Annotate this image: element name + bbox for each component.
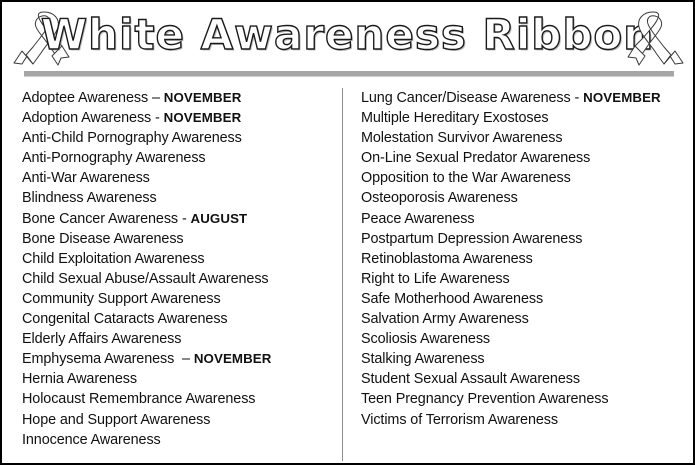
awareness-name: Holocaust Remembrance Awareness bbox=[22, 391, 255, 407]
list-item: Anti-War Awareness bbox=[22, 168, 342, 188]
poster-header: White Awareness Ribbon bbox=[2, 2, 693, 74]
awareness-name: Blindness Awareness bbox=[22, 190, 157, 206]
right-column: Lung Cancer/Disease Awareness - NOVEMBER… bbox=[342, 88, 693, 461]
list-item: Elderly Affairs Awareness bbox=[22, 329, 342, 349]
awareness-month: AUGUST bbox=[191, 211, 248, 226]
awareness-name: Safe Motherhood Awareness bbox=[361, 291, 543, 307]
list-item: Innocence Awareness bbox=[22, 430, 342, 450]
list-item: Teen Pregnancy Prevention Awareness bbox=[361, 389, 693, 409]
list-item: Blindness Awareness bbox=[22, 188, 342, 208]
awareness-name: Hope and Support Awareness bbox=[22, 412, 210, 428]
awareness-month: NOVEMBER bbox=[583, 90, 661, 105]
list-item: Congenital Cataracts Awareness bbox=[22, 309, 342, 329]
awareness-name: Student Sexual Assault Awareness bbox=[361, 371, 580, 387]
list-item: Bone Cancer Awareness - AUGUST bbox=[22, 209, 342, 229]
list-item: Peace Awareness bbox=[361, 209, 693, 229]
list-item: Child Exploitation Awareness bbox=[22, 249, 342, 269]
awareness-name: Hernia Awareness bbox=[22, 371, 137, 387]
awareness-ribbon-icon bbox=[623, 6, 689, 70]
list-item: Bone Disease Awareness bbox=[22, 229, 342, 249]
awareness-name: Anti-Pornography Awareness bbox=[22, 150, 206, 166]
awareness-month: NOVEMBER bbox=[164, 90, 242, 105]
awareness-name: Victims of Terrorism Awareness bbox=[361, 412, 558, 428]
awareness-name: Stalking Awareness bbox=[361, 351, 485, 367]
list-item: Holocaust Remembrance Awareness bbox=[22, 389, 342, 409]
list-item: Osteoporosis Awareness bbox=[361, 188, 693, 208]
list-item: Student Sexual Assault Awareness bbox=[361, 369, 693, 389]
list-item: Multiple Hereditary Exostoses bbox=[361, 108, 693, 128]
awareness-name: Child Exploitation Awareness bbox=[22, 251, 205, 267]
awareness-name: Osteoporosis Awareness bbox=[361, 190, 518, 206]
list-item: Salvation Army Awareness bbox=[361, 309, 693, 329]
awareness-name: Multiple Hereditary Exostoses bbox=[361, 110, 548, 126]
list-item: Safe Motherhood Awareness bbox=[361, 289, 693, 309]
awareness-name: Elderly Affairs Awareness bbox=[22, 331, 181, 347]
awareness-name: Molestation Survivor Awareness bbox=[361, 130, 563, 146]
awareness-name: Adoptee Awareness bbox=[22, 90, 152, 106]
awareness-name: Right to Life Awareness bbox=[361, 271, 510, 287]
awareness-month: NOVEMBER bbox=[164, 110, 242, 125]
awareness-name: Anti-Child Pornography Awareness bbox=[22, 130, 242, 146]
list-item: Emphysema Awareness – NOVEMBER bbox=[22, 349, 342, 369]
awareness-name: Anti-War Awareness bbox=[22, 170, 150, 186]
list-item: Anti-Child Pornography Awareness bbox=[22, 128, 342, 148]
awareness-ribbon-poster: White Awareness Ribbon Adoptee Awareness… bbox=[0, 0, 695, 465]
awareness-name: Child Sexual Abuse/Assault Awareness bbox=[22, 271, 269, 287]
list-item: Stalking Awareness bbox=[361, 349, 693, 369]
awareness-name: Opposition to the War Awareness bbox=[361, 170, 571, 186]
list-item: Postpartum Depression Awareness bbox=[361, 229, 693, 249]
list-item: Molestation Survivor Awareness bbox=[361, 128, 693, 148]
name-month-separator: - bbox=[182, 211, 191, 227]
list-item: Hope and Support Awareness bbox=[22, 410, 342, 430]
name-month-separator: - bbox=[155, 110, 164, 126]
header-divider-bar bbox=[24, 71, 674, 76]
awareness-name: Bone Disease Awareness bbox=[22, 231, 184, 247]
name-month-separator: – bbox=[152, 90, 164, 106]
list-item: Hernia Awareness bbox=[22, 369, 342, 389]
list-item: Community Support Awareness bbox=[22, 289, 342, 309]
awareness-name: Scoliosis Awareness bbox=[361, 331, 490, 347]
awareness-list-left: Adoptee Awareness – NOVEMBERAdoption Awa… bbox=[22, 88, 342, 450]
list-item: Retinoblastoma Awareness bbox=[361, 249, 693, 269]
list-item: Lung Cancer/Disease Awareness - NOVEMBER bbox=[361, 88, 693, 108]
awareness-name: Congenital Cataracts Awareness bbox=[22, 311, 228, 327]
awareness-name: Adoption Awareness bbox=[22, 110, 155, 126]
awareness-list-columns: Adoptee Awareness – NOVEMBERAdoption Awa… bbox=[2, 88, 693, 461]
awareness-name: Postpartum Depression Awareness bbox=[361, 231, 582, 247]
awareness-name: Community Support Awareness bbox=[22, 291, 221, 307]
awareness-list-right: Lung Cancer/Disease Awareness - NOVEMBER… bbox=[361, 88, 693, 430]
list-item: Opposition to the War Awareness bbox=[361, 168, 693, 188]
list-item: On-Line Sexual Predator Awareness bbox=[361, 148, 693, 168]
awareness-name: On-Line Sexual Predator Awareness bbox=[361, 150, 590, 166]
page-title: White Awareness Ribbon bbox=[2, 9, 693, 61]
awareness-name: Bone Cancer Awareness bbox=[22, 211, 182, 227]
list-item: Child Sexual Abuse/Assault Awareness bbox=[22, 269, 342, 289]
awareness-name: Teen Pregnancy Prevention Awareness bbox=[361, 391, 608, 407]
awareness-name: Salvation Army Awareness bbox=[361, 311, 529, 327]
name-month-separator: - bbox=[575, 90, 584, 106]
list-item: Right to Life Awareness bbox=[361, 269, 693, 289]
list-item: Adoptee Awareness – NOVEMBER bbox=[22, 88, 342, 108]
left-column: Adoptee Awareness – NOVEMBERAdoption Awa… bbox=[2, 88, 342, 461]
name-month-separator: – bbox=[182, 351, 194, 367]
awareness-name: Retinoblastoma Awareness bbox=[361, 251, 533, 267]
list-item: Victims of Terrorism Awareness bbox=[361, 410, 693, 430]
awareness-month: NOVEMBER bbox=[194, 351, 272, 366]
list-item: Anti-Pornography Awareness bbox=[22, 148, 342, 168]
awareness-name: Emphysema Awareness bbox=[22, 351, 182, 367]
list-item: Adoption Awareness - NOVEMBER bbox=[22, 108, 342, 128]
awareness-name: Peace Awareness bbox=[361, 211, 474, 227]
list-item: Scoliosis Awareness bbox=[361, 329, 693, 349]
awareness-name: Lung Cancer/Disease Awareness bbox=[361, 90, 575, 106]
awareness-name: Innocence Awareness bbox=[22, 432, 161, 448]
